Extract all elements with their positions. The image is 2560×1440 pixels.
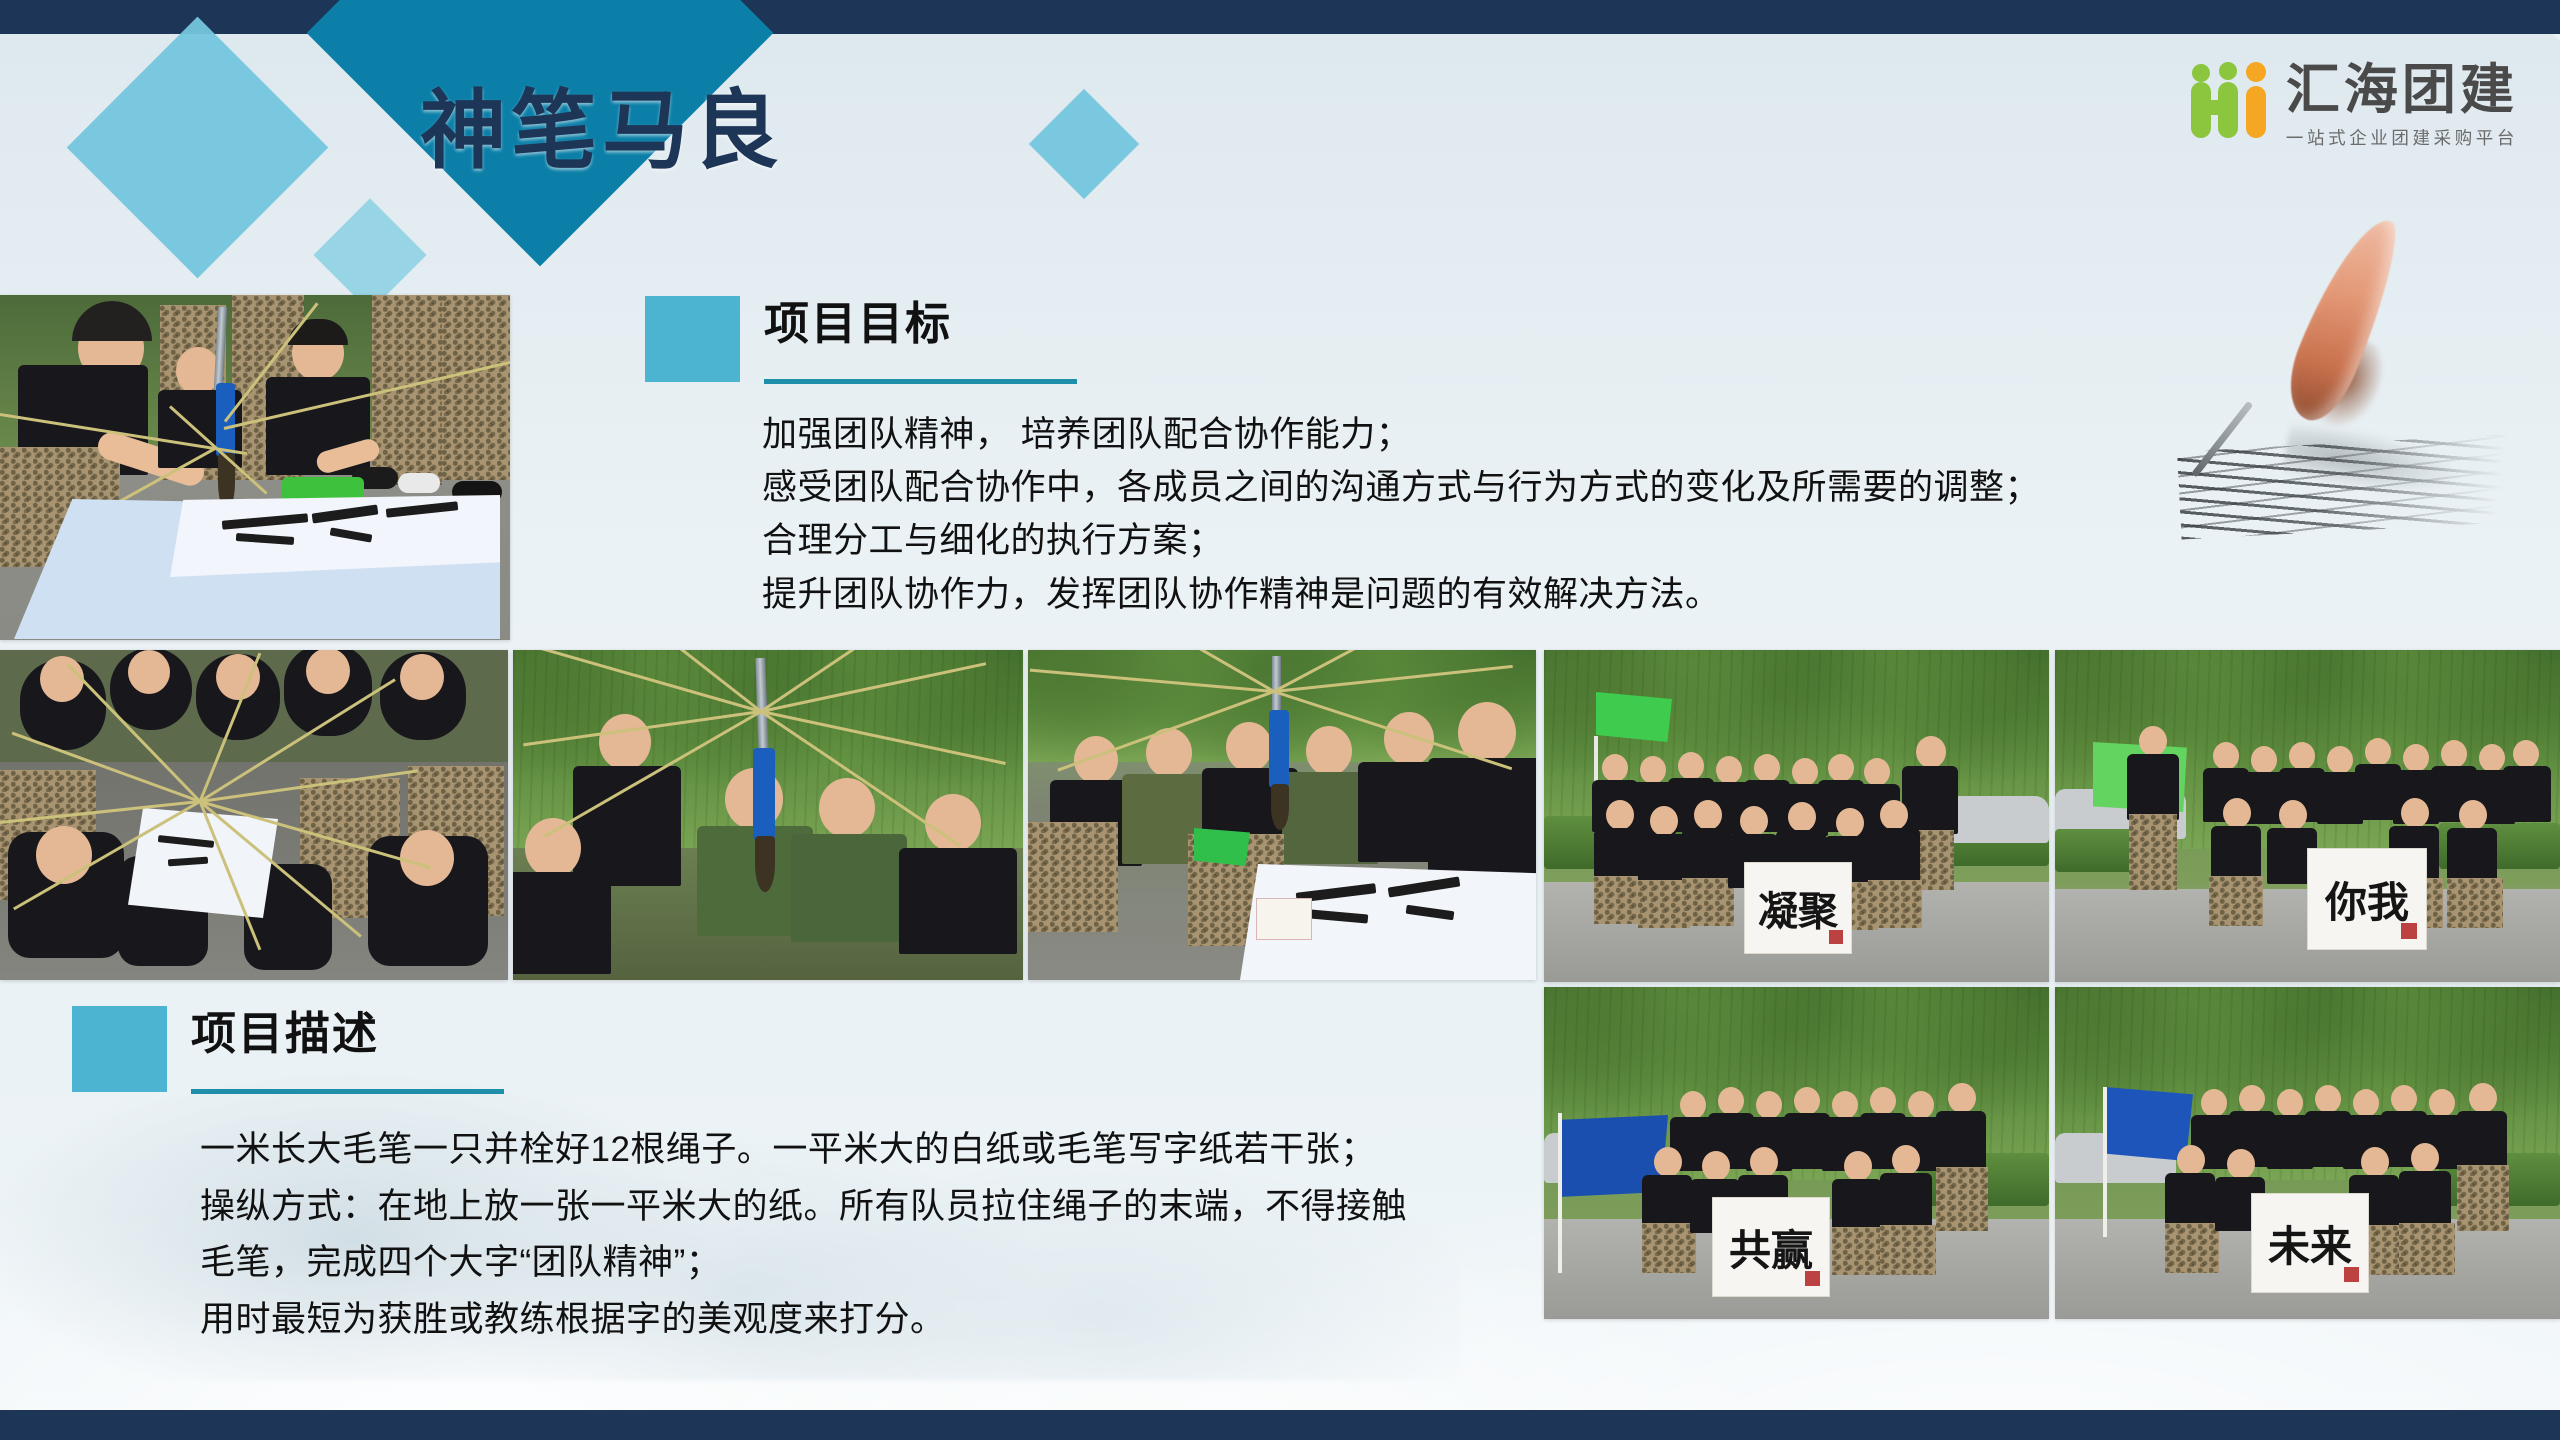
group-sign: 未来: [2251, 1193, 2369, 1293]
desc-line-2: 操纵方式：在地上放一张一平米大的纸。所有队员拉住绳子的末端，不得接触: [200, 1179, 1407, 1236]
diamond-light-icon-2: [1029, 89, 1139, 199]
group-sign: 共赢: [1712, 1197, 1830, 1297]
page-title: 神笔马良: [420, 88, 784, 174]
section-underline: [191, 1089, 504, 1094]
goal-body-text: 加强团队精神， 培养团队配合协作能力； 感受团队配合协作中，各成员之间的沟通方式…: [762, 408, 2040, 621]
section-marker-square: [72, 1006, 167, 1092]
brand-tagline: 一站式企业团建采购平台: [2286, 125, 2518, 150]
brand-name: 汇海团建: [2286, 62, 2518, 119]
goal-line-3: 合理分工与细化的执行方案；: [762, 514, 2040, 567]
description-body-text: 一米长大毛笔一只并栓好12根绳子。一平米大的白纸或毛笔写字纸若干张； 操纵方式：…: [200, 1122, 1407, 1349]
photo-team-writing-ground: [1028, 650, 1536, 980]
feather-quill-pen-icon: [2185, 215, 2515, 475]
hi-logo-icon: [2189, 62, 2273, 140]
photo-group-sign-weilai: 未来: [2055, 987, 2560, 1319]
section-heading-goal: 项目目标: [645, 296, 1077, 384]
goal-line-4: 提升团队协作力，发挥团队协作精神是问题的有效解决方法。: [762, 568, 2040, 621]
photo-team-ropes-overhead: [0, 650, 508, 980]
group-sign: 凝聚: [1744, 862, 1852, 954]
section-title: 项目描述: [191, 1006, 504, 1056]
photo-calligraphy-closeup: [0, 295, 510, 640]
photo-group-sign-niwo: 你我: [2055, 650, 2560, 982]
diamond-light-icon-1: [67, 17, 329, 279]
photo-team-brush-lift: [513, 650, 1023, 980]
desc-line-3: 毛笔，完成四个大字“团队精神”；: [200, 1235, 1407, 1292]
diamond-light-icon-3: [313, 198, 426, 300]
brand-logo: 汇海团建 一站式企业团建采购平台: [2189, 62, 2518, 150]
section-underline: [764, 379, 1077, 384]
section-marker-square: [645, 296, 740, 382]
desc-line-1: 一米长大毛笔一只并栓好12根绳子。一平米大的白纸或毛笔写字纸若干张；: [200, 1122, 1407, 1179]
goal-line-1: 加强团队精神， 培养团队配合协作能力；: [762, 408, 2040, 461]
photo-group-sign-gongying: 共赢: [1544, 987, 2049, 1319]
desc-line-4: 用时最短为获胜或教练根据字的美观度来打分。: [200, 1292, 1407, 1349]
bottom-accent-bar: [0, 1410, 2560, 1440]
section-title: 项目目标: [764, 296, 1077, 346]
goal-line-2: 感受团队配合协作中，各成员之间的沟通方式与行为方式的变化及所需要的调整；: [762, 461, 2040, 514]
photo-group-sign-ningju: 凝聚: [1544, 650, 2049, 982]
section-heading-description: 项目描述: [72, 1006, 504, 1094]
group-sign: 你我: [2307, 848, 2427, 950]
